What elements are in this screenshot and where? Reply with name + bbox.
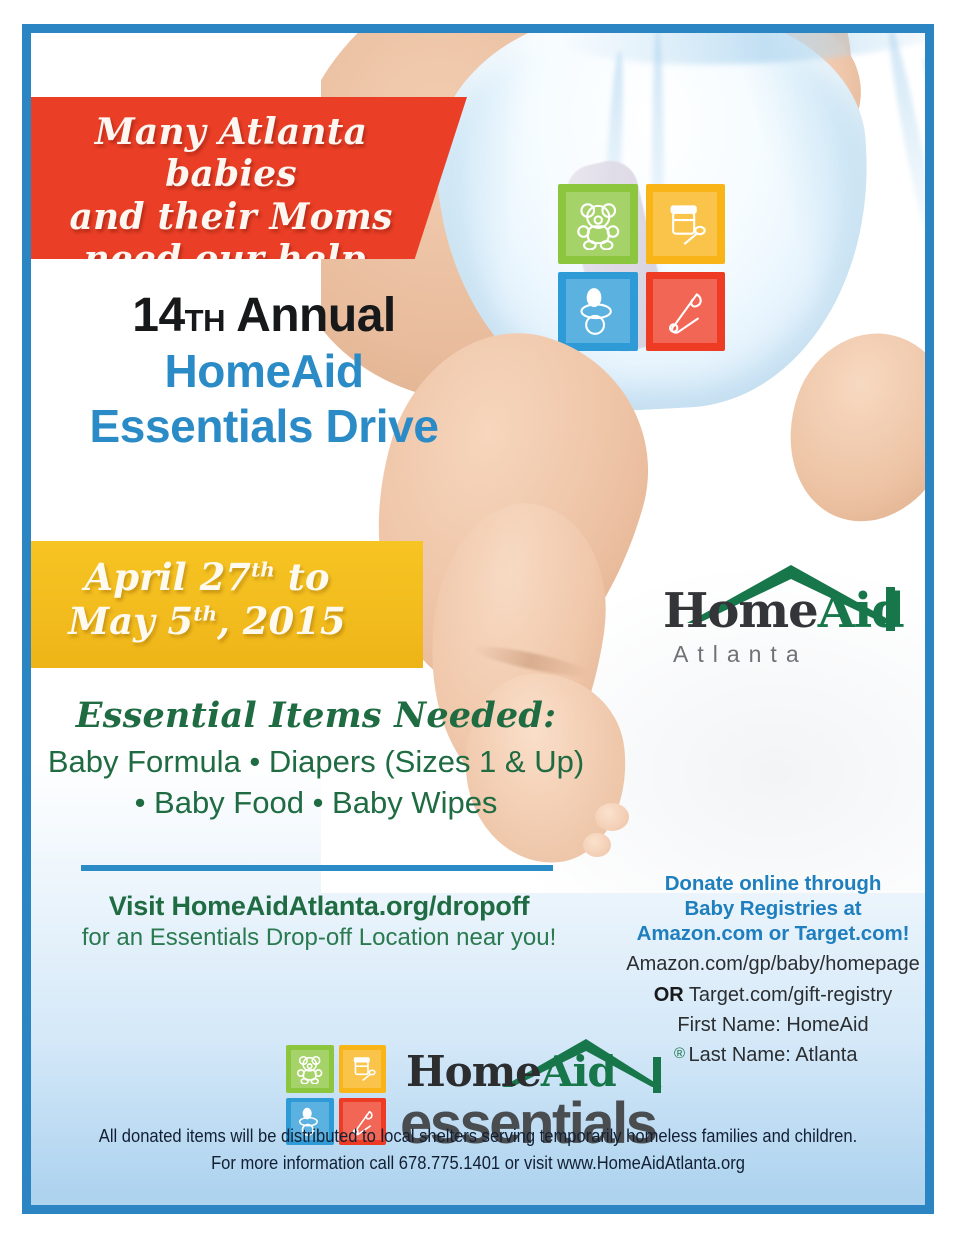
diaper-icon-grid <box>558 184 725 351</box>
title-ordinal-suffix: TH <box>185 303 225 338</box>
dropoff-section: Visit HomeAidAtlanta.org/dropoff for an … <box>59 891 579 952</box>
teddy-bear-icon <box>558 184 638 264</box>
baby-toe <box>583 833 611 857</box>
title-annual-word: Annual <box>236 289 396 342</box>
title-annual-line: 14TH Annual <box>49 291 479 342</box>
event-title: 14TH Annual HomeAid Essentials Drive <box>31 291 479 453</box>
baby-food-jar-icon <box>339 1045 387 1093</box>
home-word: Home <box>406 1047 541 1096</box>
items-needed-title: Essential Items Needed: <box>31 695 601 736</box>
registered-trademark-icon: ® <box>674 1045 685 1062</box>
date-banner-text: April 27th to May 5th, 2015 <box>31 541 423 644</box>
aid-word: Aid <box>541 1047 616 1096</box>
date-line-2: May 5th, 2015 <box>31 599 383 643</box>
or-label: OR <box>654 984 684 1006</box>
atlanta-word: Atlanta <box>673 641 808 668</box>
headline-banner-red: Many Atlanta babies and their Moms need … <box>31 97 467 259</box>
dropoff-subtitle: for an Essentials Drop-off Location near… <box>59 924 579 952</box>
items-needed-line-1: Baby Formula • Diapers (Sizes 1 & Up) <box>31 742 601 783</box>
target-registry-url[interactable]: Target.com/gift-registry <box>689 984 892 1006</box>
teddy-bear-icon <box>286 1045 334 1093</box>
pacifier-icon <box>558 272 638 352</box>
homeaid-wordmark: HomeAid <box>406 1051 616 1093</box>
divider-rule <box>81 865 553 871</box>
homeaid-atlanta-logo: HomeAid Atlanta <box>639 557 919 675</box>
donate-heading-line-3: Amazon.com or Target.com! <box>617 921 929 946</box>
footer-disclaimer: All donated items will be distributed to… <box>31 1123 925 1177</box>
aid-word: Aid <box>818 583 904 639</box>
footer-line-1: All donated items will be distributed to… <box>67 1123 889 1150</box>
headline-banner-text: Many Atlanta babies and their Moms need … <box>31 97 467 281</box>
flyer-page: Many Atlanta babies and their Moms need … <box>0 0 956 1238</box>
items-needed-list: Baby Formula • Diapers (Sizes 1 & Up) • … <box>31 742 601 824</box>
title-ordinal-number: 14 <box>132 289 184 342</box>
baby-food-jar-icon <box>646 184 726 264</box>
donate-heading-line-2: Baby Registries at <box>617 896 929 921</box>
items-needed-line-2: • Baby Food • Baby Wipes <box>31 783 601 824</box>
date-line-1: April 27th to <box>31 555 383 599</box>
donate-heading: Donate online through Baby Registries at… <box>617 871 929 946</box>
headline-line-2: and their Moms <box>41 196 421 238</box>
title-brand-line-1: HomeAid <box>49 346 479 398</box>
headline-line-1: Many Atlanta babies <box>41 111 421 196</box>
dropoff-url[interactable]: Visit HomeAidAtlanta.org/dropoff <box>59 891 579 922</box>
footer-line-2: For more information call 678.775.1401 o… <box>67 1150 889 1177</box>
flyer-frame: Many Atlanta babies and their Moms need … <box>22 24 934 1214</box>
donate-heading-line-1: Donate online through <box>617 871 929 896</box>
title-brand-line-2: Essentials Drive <box>49 401 479 453</box>
amazon-registry-url[interactable]: Amazon.com/gp/baby/homepage <box>617 951 929 977</box>
home-word: Home <box>663 583 818 639</box>
homeaid-wordmark: HomeAid <box>663 587 904 635</box>
date-banner-yellow: April 27th to May 5th, 2015 <box>31 541 423 668</box>
safety-pin-icon <box>646 272 726 352</box>
items-needed-section: Essential Items Needed: Baby Formula • D… <box>31 695 601 824</box>
target-registry-row: OR Target.com/gift-registry <box>617 982 929 1008</box>
